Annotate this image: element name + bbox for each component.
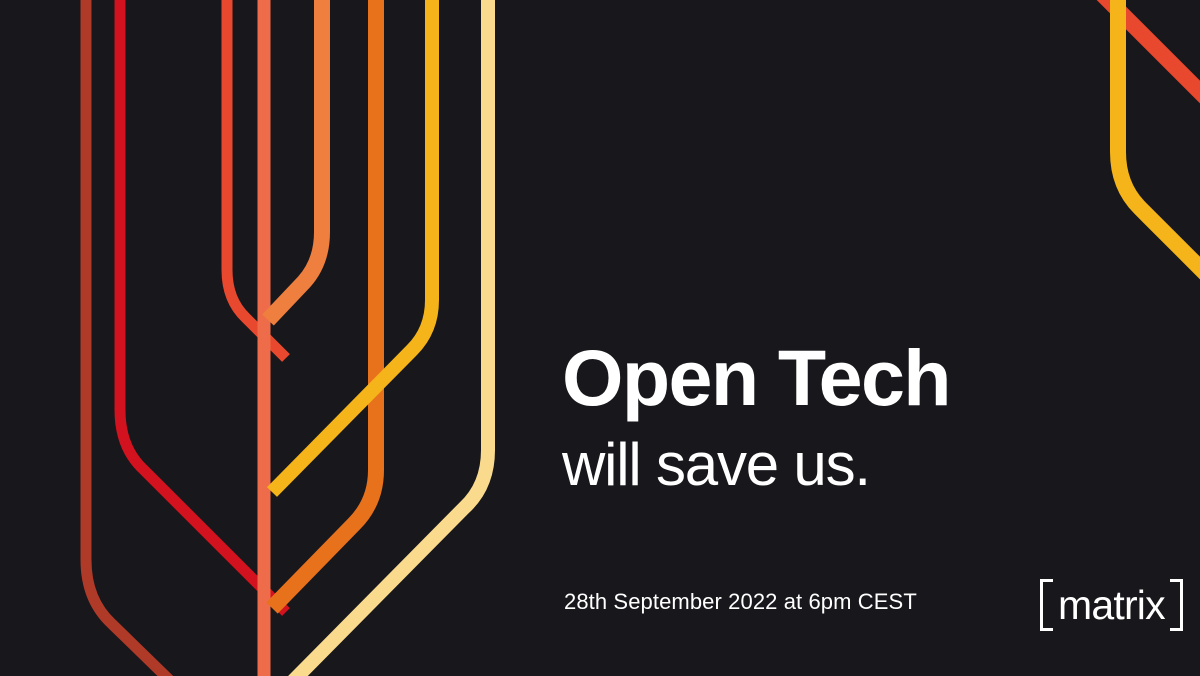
bracket-right-icon — [1170, 579, 1183, 631]
bracket-left-icon — [1040, 579, 1053, 631]
matrix-logo-wordmark: matrix — [1053, 585, 1170, 626]
event-banner: Open Tech will save us. 28th September 2… — [0, 0, 1200, 676]
stroke-cream — [292, 0, 488, 676]
headline-block: Open Tech will save us. — [562, 338, 950, 495]
content-column: Open Tech will save us. 28th September 2… — [562, 0, 1182, 676]
stroke-light-orange — [268, 0, 322, 320]
page-title: Open Tech — [562, 338, 950, 417]
tree-artwork-left — [0, 0, 540, 676]
stroke-gold — [272, 0, 432, 492]
stroke-orange — [272, 0, 376, 608]
stroke-bright-red — [120, 0, 286, 612]
page-subtitle: will save us. — [562, 435, 950, 495]
stroke-brick-red — [86, 0, 190, 676]
stroke-orange-red — [227, 0, 286, 358]
event-date: 28th September 2022 at 6pm CEST — [564, 589, 917, 615]
matrix-logo: matrix — [1040, 578, 1183, 632]
